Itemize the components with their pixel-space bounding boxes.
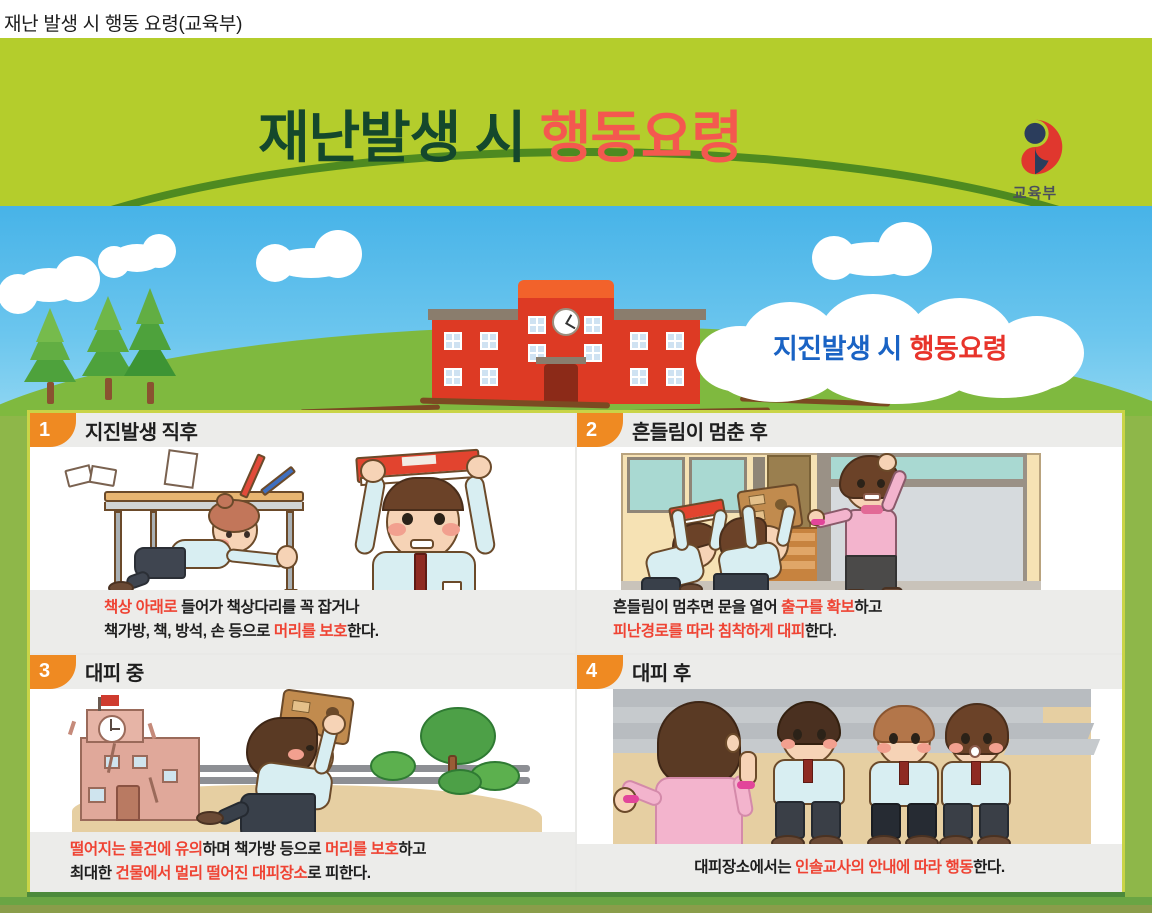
caption-text: 인솔교사의 안내에 따라 행동	[795, 859, 973, 876]
panel-2-number: 2	[577, 413, 623, 447]
student-pants	[775, 801, 805, 839]
boy-hand	[360, 459, 386, 483]
panel-1-title: 지진발생 직후	[85, 416, 197, 445]
caption-text: 로 피한다.	[307, 865, 370, 882]
caption-text: 머리를 보호	[325, 841, 398, 858]
cloud-icon	[272, 248, 350, 278]
school-window	[162, 769, 178, 783]
flag-icon	[101, 695, 119, 706]
girl-eye	[306, 745, 314, 751]
student-eye	[983, 733, 992, 744]
caption-line: 최대한 건물에서 멀리 떨어진 대피장소로 피한다.	[70, 862, 575, 886]
falling-paper-icon	[164, 449, 199, 489]
student-cheek	[823, 739, 837, 749]
caption-text: 최대한	[70, 865, 116, 882]
boy-eye	[402, 513, 413, 525]
main-title-red: 행동요령	[540, 106, 742, 169]
panel-1-number: 1	[30, 413, 76, 447]
caption-line: 책상 아래로 들어가 책상다리를 꼭 잡거나	[104, 596, 575, 620]
school-window	[88, 787, 106, 803]
school-building-icon	[432, 278, 702, 404]
student-eye	[817, 729, 826, 740]
panel-2-title: 흔들림이 멈춘 후	[632, 416, 767, 445]
student-eye	[793, 729, 802, 740]
girl-hair-bun	[216, 493, 234, 509]
panel-2-header: 2 흔들림이 멈춘 후	[577, 413, 1122, 447]
caption-text: 한다.	[973, 859, 1005, 876]
student-cheek	[781, 739, 795, 749]
boy-cheek	[442, 523, 460, 536]
caption-text: 대피장소에서는	[694, 859, 795, 876]
boy-arm	[463, 474, 497, 556]
panel-4-number: 4	[577, 655, 623, 689]
caption-text: 하며 책가방 등으로	[203, 841, 326, 858]
teacher-eye	[877, 479, 885, 488]
boy-arm	[353, 474, 387, 556]
panel-1-illustration	[30, 447, 575, 607]
cracked-school-body	[80, 737, 200, 821]
panel-3[interactable]: 3 대피 중	[30, 655, 575, 895]
caption-text: 한다.	[347, 623, 379, 640]
student-pants	[943, 803, 973, 839]
poster-container: 재난발생 시 행동요령 교육부	[0, 38, 1152, 913]
pine-tree-icon	[122, 286, 178, 404]
caption-line: 책가방, 책, 방석, 손 등으로 머리를 보호한다.	[104, 620, 575, 644]
desk-apron	[104, 502, 304, 511]
panel-4-caption: 대피장소에서는 인솔교사의 안내에 따라 행동한다.	[577, 844, 1122, 894]
panel-3-title: 대피 중	[85, 657, 144, 686]
student-cheek	[949, 743, 963, 753]
bag-buckle	[291, 699, 310, 712]
bubble-text-blue: 지진발생 시	[773, 327, 902, 366]
cloud-icon	[18, 268, 80, 302]
falling-book-icon	[89, 465, 118, 487]
caption-text: 머리를 보호	[274, 623, 347, 640]
panel-1-header: 1 지진발생 직후	[30, 413, 575, 447]
page-title: 재난 발생 시 행동 요령(교육부)	[0, 0, 1152, 36]
bleacher-side	[1004, 739, 1100, 755]
student-eye	[889, 733, 898, 744]
corridor-window	[627, 457, 685, 513]
teacher-hand	[877, 453, 897, 472]
panel-4[interactable]: 4 대피 후	[577, 655, 1122, 895]
caption-text: 흔들림이 멈추면 문을 열어	[613, 599, 781, 616]
teacher-eye	[857, 479, 865, 488]
panel-3-caption: 떨어지는 물건에 유의하며 책가방 등으로 머리를 보호하고 최대한 건물에서 …	[30, 832, 575, 894]
teacher-ear	[725, 733, 741, 753]
main-title-dark: 재난발생 시	[258, 106, 525, 169]
teacher-mouth	[863, 493, 881, 501]
panel-grid: 1 지진발생 직후	[30, 413, 1122, 894]
boy-hand	[466, 455, 492, 479]
panel-2[interactable]: 2 흔들림이 멈춘 후	[577, 413, 1122, 653]
caption-text: 건물에서 멀리 떨어진 대피장소	[116, 865, 308, 882]
cloud-icon	[830, 242, 916, 276]
teacher-pointing-finger	[739, 751, 757, 785]
caption-text: 출구를 확보	[781, 599, 854, 616]
teacher-wristband	[623, 795, 639, 803]
speech-bubble-text: 지진발생 시 행동요령	[690, 300, 1090, 392]
bush-icon	[370, 751, 416, 781]
student-pants	[871, 803, 901, 839]
caption-text: 피난경로를 따라 침착하게 대피	[613, 623, 805, 640]
teacher-blouse	[845, 509, 897, 559]
student-cheek	[989, 743, 1003, 753]
panel-4-title: 대피 후	[632, 657, 691, 686]
panel-2-caption: 흔들림이 멈추면 문을 열어 출구를 확보하고 피난경로를 따라 침착하게 대피…	[577, 590, 1122, 652]
school-door	[116, 785, 140, 821]
bush-icon	[438, 769, 482, 795]
shake-line-icon	[68, 720, 76, 735]
panel-grid-frame: 1 지진발생 직후	[27, 410, 1125, 897]
student-eye	[911, 733, 920, 744]
teacher-wristband	[737, 781, 755, 789]
girl-hand	[322, 713, 346, 735]
panel-1-caption: 책상 아래로 들어가 책상다리를 꼭 잡거나 책가방, 책, 방석, 손 등으로…	[30, 590, 575, 652]
caption-text: 떨어지는 물건에 유의	[70, 841, 203, 858]
girl-eye	[244, 531, 250, 538]
panel-4-header: 4 대피 후	[577, 655, 1122, 689]
caption-line: 피난경로를 따라 침착하게 대피한다.	[613, 620, 1122, 644]
caption-line: 떨어지는 물건에 유의하며 책가방 등으로 머리를 보호하고	[70, 838, 575, 862]
student-pants	[979, 803, 1009, 839]
student-pants	[811, 801, 841, 839]
panel-1[interactable]: 1 지진발생 직후	[30, 413, 575, 653]
boy-eye	[434, 513, 445, 525]
student-necktie	[971, 761, 981, 785]
student-cheek	[917, 743, 931, 753]
student-mouth-open	[969, 745, 981, 758]
girl-eye	[226, 531, 232, 538]
poster-main-title: 재난발생 시 행동요령	[0, 110, 1000, 166]
cloud-icon	[112, 244, 162, 272]
panel-3-header: 3 대피 중	[30, 655, 575, 689]
panel-4-illustration	[577, 689, 1122, 857]
panel-3-number: 3	[30, 655, 76, 689]
caption-text: 한다.	[805, 623, 837, 640]
taegeuk-icon	[1004, 116, 1066, 178]
panel-2-illustration	[577, 447, 1122, 607]
boy-cheek	[388, 523, 406, 536]
caption-text: 하고	[854, 599, 882, 616]
school-door	[544, 364, 578, 404]
caption-line: 흔들림이 멈추면 문을 열어 출구를 확보하고	[613, 596, 1122, 620]
ministry-logo-label: 교육부	[975, 182, 1095, 203]
girl-cheek	[288, 749, 304, 760]
header-band: 재난발생 시 행동요령 교육부	[0, 38, 1152, 210]
student-cheek	[877, 743, 891, 753]
border-outer	[0, 905, 1152, 913]
tree-canopy	[420, 707, 496, 765]
caption-text: 하고	[398, 841, 426, 858]
teacher-wristband	[811, 519, 825, 525]
student-pants	[907, 803, 937, 839]
clock-hand	[110, 728, 120, 730]
ministry-logo: 교육부	[975, 116, 1095, 203]
bubble-text-red: 행동요령	[910, 327, 1007, 366]
student-necktie	[899, 761, 909, 785]
clock-icon	[552, 308, 580, 336]
teacher-collar	[861, 505, 883, 514]
student-eye	[961, 733, 970, 744]
desk-top	[104, 491, 304, 502]
caption-text: 책상 아래로	[104, 599, 177, 616]
student-necktie	[803, 759, 813, 783]
girl-hand-grip	[276, 545, 298, 569]
boy-mouth	[410, 539, 434, 549]
caption-line: 대피장소에서는 인솔교사의 안내에 따라 행동한다.	[577, 856, 1122, 880]
pine-tree-icon	[22, 312, 78, 404]
school-window	[132, 755, 148, 769]
speech-bubble: 지진발생 시 행동요령	[690, 300, 1090, 392]
caption-text: 들어가 책상다리를 꼭 잡거나	[177, 599, 359, 616]
caption-text: 책가방, 책, 방석, 손 등으로	[104, 623, 274, 640]
girl-shoe	[196, 811, 224, 825]
